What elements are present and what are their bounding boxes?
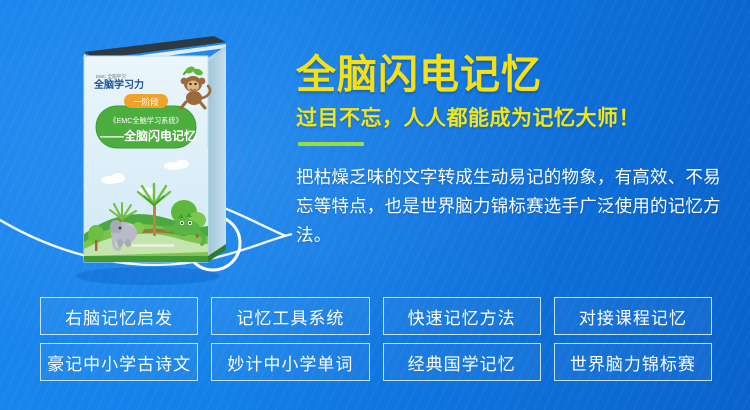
description-paragraph: 把枯燥乏味的文字转成生动易记的物象，有高效、不易忘等特点，也是世界脑力锦标赛选手… <box>296 163 732 250</box>
scene-caption <box>132 244 174 247</box>
product-box-image: 一阶段 《EMC全脑学习系统》 ——全脑闪电记忆 EMC 全脑学习 全脑学习力 <box>66 28 246 290</box>
svg-text:《EMC全脑学习系统》: 《EMC全脑学习系统》 <box>109 116 182 125</box>
feature-box-1[interactable]: 右脑记忆启发 <box>40 297 198 335</box>
page-subtitle: 过目不忘，人人都能成为记忆大师！ <box>296 104 736 134</box>
feature-box-3[interactable]: 快速记忆方法 <box>383 297 541 335</box>
title-divider <box>298 142 364 146</box>
feature-box-5[interactable]: 豪记中小学古诗文 <box>40 343 198 381</box>
feature-box-7[interactable]: 经典国学记忆 <box>383 343 541 381</box>
svg-text:——全脑闪电记忆: ——全脑闪电记忆 <box>100 128 196 143</box>
feature-box-8[interactable]: 世界脑力锦标赛 <box>554 343 712 381</box>
svg-text:全脑学习力: 全脑学习力 <box>93 78 144 91</box>
feature-grid: 右脑记忆启发 记忆工具系统 快速记忆方法 对接课程记忆 豪记中小学古诗文 妙计中… <box>40 297 712 381</box>
headline-block: 全脑闪电记忆 过目不忘，人人都能成为记忆大师！ 把枯燥乏味的文字转成生动易记的物… <box>296 52 736 250</box>
feature-box-4[interactable]: 对接课程记忆 <box>554 297 712 335</box>
feature-box-6[interactable]: 妙计中小学单词 <box>211 343 369 381</box>
svg-text:一阶段: 一阶段 <box>133 97 159 107</box>
svg-text:EMC 全脑学习: EMC 全脑学习 <box>96 73 126 80</box>
promo-banner: 一阶段 《EMC全脑学习系统》 ——全脑闪电记忆 EMC 全脑学习 全脑学习力 <box>0 0 750 410</box>
page-title: 全脑闪电记忆 <box>296 52 736 98</box>
feature-box-2[interactable]: 记忆工具系统 <box>211 297 369 335</box>
